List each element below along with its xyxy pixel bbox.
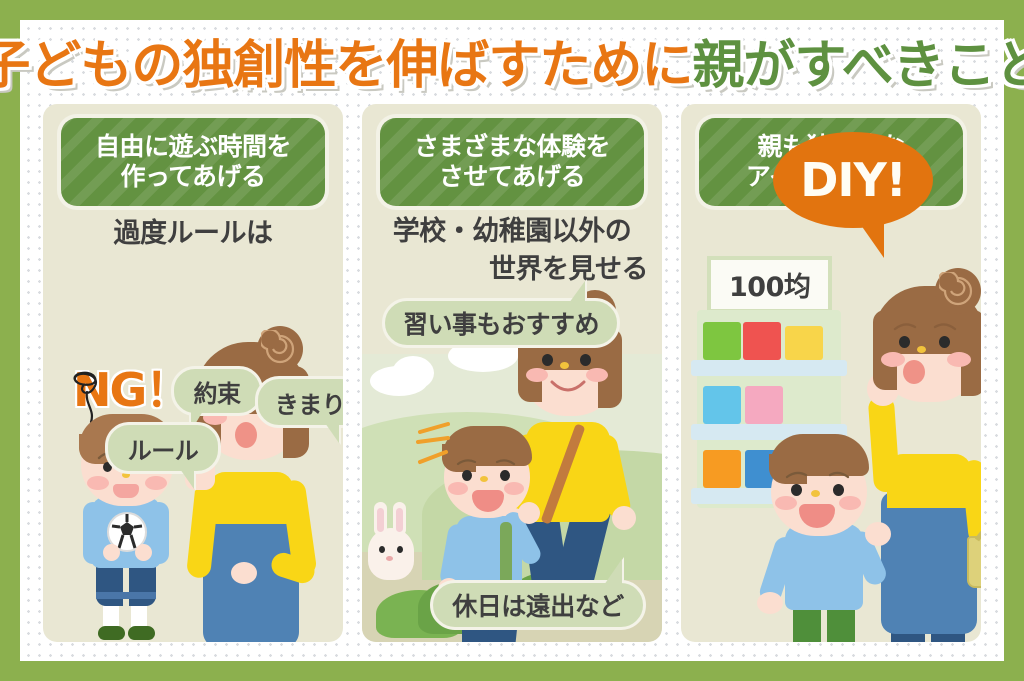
page-title: 子どもの独創性を伸ばすために親がすべきこと xyxy=(20,24,1004,96)
hair-bun-swirl-icon xyxy=(261,330,299,368)
boy2-eyebrows-icon xyxy=(456,456,516,468)
label-100yen-shop-text: 100均 xyxy=(729,272,810,303)
card-1-header-line2: 作ってあげる xyxy=(120,162,265,193)
hair-bun-swirl-icon xyxy=(939,272,977,310)
bubble-kimari-label: きまり xyxy=(275,385,343,420)
shelf-unit xyxy=(697,310,841,508)
card-2-header-line2: させてあげる xyxy=(439,162,585,193)
card-parent-creative-ideas[interactable]: 親も独創的な アイデアを出す DIY! 100均 xyxy=(681,104,981,642)
card-1-lede: 過度ルールは xyxy=(43,216,343,251)
bubble-rule[interactable]: ルール xyxy=(105,422,221,474)
box-blue xyxy=(745,450,783,488)
mother2-smile-icon xyxy=(548,378,588,398)
excitement-lines-icon xyxy=(414,420,454,472)
infographic-poster: 子どもの独創性を伸ばすために親がすべきこと 自由に遊ぶ時間を 作ってあげる 過度… xyxy=(0,0,1024,681)
bubble-diy-label: DIY! xyxy=(800,153,906,207)
bubble-yakusoku[interactable]: 約束 xyxy=(171,366,263,416)
label-100yen-shop: 100均 xyxy=(707,256,832,313)
card-free-play-time[interactable]: 自由に遊ぶ時間を 作ってあげる 過度ルールは NG！ xyxy=(43,104,343,642)
bubble-kyujitsu-label: 休日は遠出など xyxy=(452,587,624,623)
cloud-icon xyxy=(370,366,428,396)
mother3-eyebrows-icon xyxy=(893,320,957,334)
card-2-header-line1: さまざまな体験を xyxy=(414,132,610,163)
boy3-eyebrows-icon xyxy=(785,468,851,482)
page-title-part2: 親がすべきこと xyxy=(692,36,1024,96)
card-list: 自由に遊ぶ時間を 作ってあげる 過度ルールは NG！ xyxy=(43,104,981,642)
page-title-part1: 子どもの独創性を伸ばすために xyxy=(0,36,692,96)
box-green xyxy=(703,322,741,360)
basket-handle-icon xyxy=(969,510,981,542)
bubble-rule-label: ルール xyxy=(128,431,199,466)
soccer-ball-icon xyxy=(107,512,147,552)
bubble-kyujitsu[interactable]: 休日は遠出など xyxy=(430,580,646,630)
card-2-lede-line1: 学校・幼稚園以外の xyxy=(362,214,662,249)
basket-icon xyxy=(967,536,981,588)
bubble-naraigoto[interactable]: 習い事もおすすめ xyxy=(382,298,620,348)
card-2-header: さまざまな体験を させてあげる xyxy=(380,118,644,206)
bubble-kimari[interactable]: きまり xyxy=(255,376,343,428)
card-various-experiences[interactable]: さまざまな体験を させてあげる 学校・幼稚園以外の 世界を見せる xyxy=(362,104,662,642)
bubble-naraigoto-label: 習い事もおすすめ xyxy=(403,305,599,341)
bubble-yakusoku-label: 約束 xyxy=(194,374,241,409)
card-2-lede-line2: 世界を見せる xyxy=(362,252,662,287)
bag-strap-icon xyxy=(541,423,586,524)
rabbit-icon xyxy=(368,528,414,580)
box-yellow xyxy=(785,326,823,360)
box-lightblue xyxy=(703,386,741,424)
box-red xyxy=(743,322,781,360)
bubble-diy[interactable]: DIY! xyxy=(773,132,933,228)
box-orange xyxy=(703,450,741,488)
card-1-header-line1: 自由に遊ぶ時間を xyxy=(95,132,291,163)
card-1-header: 自由に遊ぶ時間を 作ってあげる xyxy=(61,118,325,206)
card-1-lede-line1: 過度ルールは xyxy=(114,218,273,249)
box-pink xyxy=(745,386,783,424)
